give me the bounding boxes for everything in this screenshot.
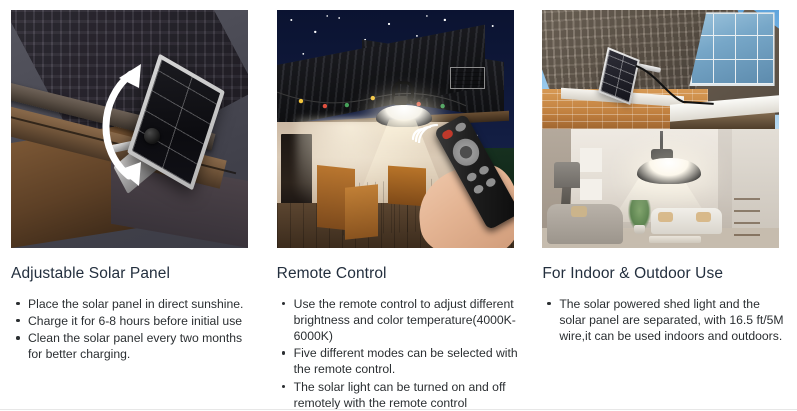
string-lights xyxy=(277,81,467,119)
pendant-rod xyxy=(660,131,663,150)
button-left-2 xyxy=(472,183,485,195)
button-right-2 xyxy=(484,176,497,188)
feature-title: Adjustable Solar Panel xyxy=(11,265,254,284)
cushion xyxy=(696,212,710,222)
feature-bullet-list: Place the solar panel in direct sunshine… xyxy=(11,296,254,363)
list-item: Clean the solar panel every two months f… xyxy=(28,330,254,362)
dpad-ring xyxy=(448,134,484,170)
tilt-arrow-icon xyxy=(79,58,169,188)
exterior-scene xyxy=(542,10,779,129)
patio-chair-back xyxy=(388,166,426,207)
interior-scene xyxy=(542,129,779,248)
feature-image-indoor-outdoor xyxy=(542,10,779,248)
feature-column-remote-control: Remote Control Use the remote control to… xyxy=(266,0,532,411)
shelving-unit xyxy=(734,198,760,236)
feature-title: Remote Control xyxy=(277,265,520,284)
pendant-cord xyxy=(398,79,400,93)
button-left xyxy=(465,171,478,183)
feature-column-indoor-outdoor: For Indoor & Outdoor Use The solar power… xyxy=(531,0,797,411)
feature-image-adjustable-solar-panel xyxy=(11,10,248,248)
power-cable xyxy=(632,62,717,105)
list-item: The solar powered shed light and the sol… xyxy=(559,296,785,345)
wall-art xyxy=(580,179,601,200)
bottom-divider xyxy=(0,409,797,410)
cushion xyxy=(658,212,672,222)
mode-button xyxy=(454,121,467,133)
pendant-light-shade xyxy=(637,158,701,184)
list-item: Place the solar panel in direct sunshine… xyxy=(28,296,254,312)
feature-bullet-list: The solar powered shed light and the sol… xyxy=(542,296,785,345)
wall-art xyxy=(580,148,601,172)
floor-lamp-shade xyxy=(554,162,580,188)
cushion xyxy=(571,206,588,217)
feature-title: For Indoor & Outdoor Use xyxy=(542,265,785,284)
patio-chair-front xyxy=(345,184,378,240)
feature-grid: Adjustable Solar Panel Place the solar p… xyxy=(0,0,797,411)
power-button xyxy=(441,128,454,140)
feature-bullet-list: Use the remote control to adjust differe… xyxy=(277,296,520,411)
button-right xyxy=(478,164,491,176)
pendant-housing xyxy=(394,96,407,105)
list-item: Use the remote control to adjust differe… xyxy=(294,296,520,345)
feature-image-remote-control xyxy=(277,10,514,248)
coffee-table xyxy=(649,236,701,243)
list-item: Charge it for 6-8 hours before initial u… xyxy=(28,313,254,329)
feature-column-adjustable-solar-panel: Adjustable Solar Panel Place the solar p… xyxy=(0,0,266,411)
plant-pot xyxy=(634,225,646,233)
list-item: The solar light can be turned on and off… xyxy=(294,379,520,411)
list-item: Five different modes can be selected wit… xyxy=(294,345,520,377)
